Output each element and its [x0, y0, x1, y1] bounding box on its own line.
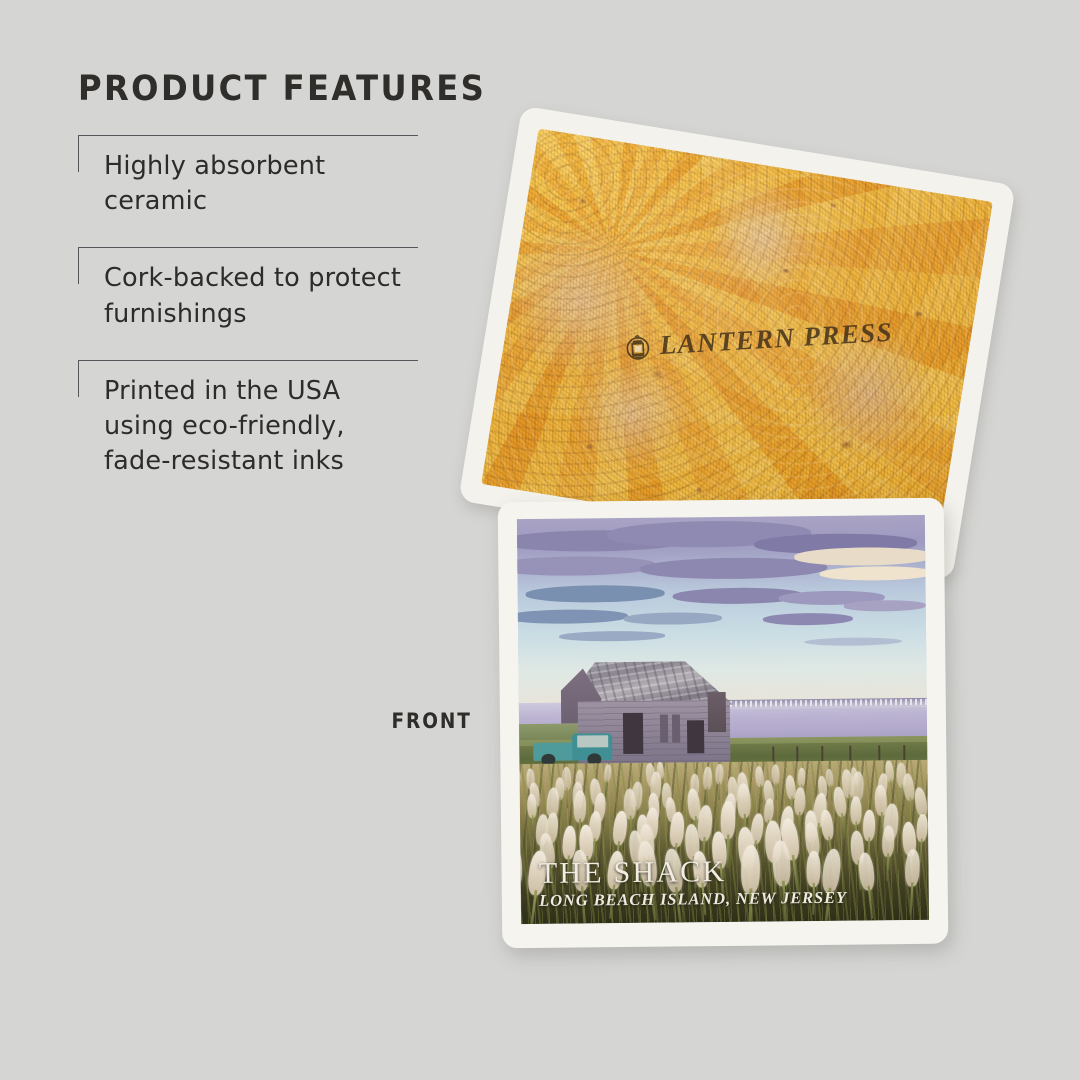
cork-surface: LANTERN PRESS: [481, 129, 993, 558]
poster-title: THE SHACK: [539, 855, 847, 889]
poster-subtitle: LONG BEACH ISLAND, NEW JERSEY: [539, 888, 847, 911]
label-front: FRONT: [391, 709, 471, 733]
cloud: [624, 612, 722, 624]
feature-text: Highly absorbent ceramic: [104, 136, 418, 219]
feature-text: Cork-backed to protect furnishings: [104, 248, 418, 331]
fence-post: [821, 746, 823, 762]
cloud: [844, 600, 926, 611]
page-title: PRODUCT FEATURES: [78, 72, 391, 107]
shack-door: [623, 712, 643, 753]
grass-plume: [862, 809, 875, 841]
poster-artwork: THE SHACK LONG BEACH ISLAND, NEW JERSEY: [517, 515, 929, 924]
fence-post: [772, 746, 774, 762]
grass-plume: [715, 763, 724, 784]
grass-plume: [772, 764, 780, 784]
lantern-icon: [624, 331, 652, 362]
feature-item: Highly absorbent ceramic: [78, 135, 418, 219]
fence-post: [850, 746, 852, 762]
shack-door: [687, 720, 704, 753]
shack-window: [672, 715, 680, 743]
poster-caption: THE SHACK LONG BEACH ISLAND, NEW JERSEY: [539, 855, 847, 911]
feature-item: Cork-backed to protect furnishings: [78, 247, 418, 331]
coaster-front-view: THE SHACK LONG BEACH ISLAND, NEW JERSEY: [498, 498, 949, 949]
fence-post: [903, 745, 905, 761]
fence-post: [878, 745, 880, 761]
fence-post: [797, 746, 799, 762]
product-image-canvas: PRODUCT FEATURES Highly absorbent cerami…: [0, 0, 1080, 1080]
product-features-panel: PRODUCT FEATURES Highly absorbent cerami…: [78, 72, 418, 479]
vintage-truck: [533, 731, 615, 766]
chimney: [708, 692, 727, 732]
feature-text: Printed in the USA using eco-friendly, f…: [104, 361, 418, 480]
truck-window: [577, 736, 608, 748]
grass-plume: [527, 794, 537, 818]
shack-window: [660, 715, 668, 743]
feature-item: Printed in the USA using eco-friendly, f…: [78, 360, 418, 480]
grass-plume: [850, 796, 861, 825]
